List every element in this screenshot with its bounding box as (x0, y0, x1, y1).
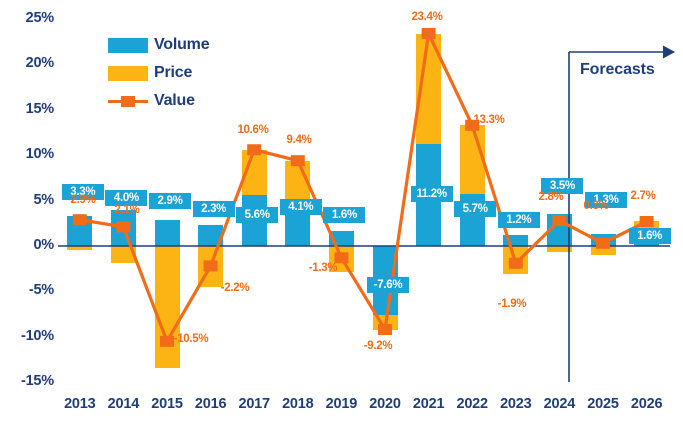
forecast-arrow-head (663, 46, 675, 59)
x-axis-tick: 2015 (143, 396, 191, 412)
volume-data-label: 4.1% (280, 199, 322, 215)
x-axis-tick: 2025 (579, 396, 627, 412)
x-axis-tick: 2019 (317, 396, 365, 412)
value-point-marker (552, 215, 566, 226)
value-point-marker (596, 238, 610, 249)
value-data-label: -1.3% (300, 261, 346, 275)
legend-item-volume[interactable]: Volume (108, 36, 209, 54)
x-axis-tick: 2016 (187, 396, 235, 412)
forecast-annotation-label: Forecasts (580, 61, 655, 79)
legend-label: Price (154, 64, 192, 82)
legend-label: Volume (154, 36, 209, 54)
value-data-label: 2.1% (104, 203, 150, 217)
legend-swatch-icon (108, 38, 148, 53)
x-axis-tick: 2014 (99, 396, 147, 412)
x-axis-tick: 2022 (448, 396, 496, 412)
x-axis-tick: 2013 (56, 396, 104, 412)
volume-data-label: 1.6% (629, 228, 671, 244)
volume-data-label: 5.7% (454, 201, 496, 217)
volume-data-label: 2.3% (193, 201, 235, 217)
x-axis-tick: 2023 (492, 396, 540, 412)
value-data-label: 2.7% (620, 189, 666, 203)
x-axis-tick: 2021 (405, 396, 453, 412)
volume-data-label: 11.2% (411, 186, 453, 202)
value-point-marker (291, 155, 305, 166)
legend-item-value[interactable]: Value (108, 92, 195, 110)
x-axis-tick: 2024 (535, 396, 583, 412)
value-point-marker (73, 214, 87, 225)
legend-swatch-icon (108, 66, 148, 81)
value-data-label: 23.4% (404, 10, 450, 24)
value-point-marker (204, 260, 218, 271)
value-data-label: 10.6% (230, 123, 276, 137)
value-data-label: 2.8% (528, 190, 574, 204)
volume-data-label: 2.9% (149, 193, 191, 209)
value-data-label: -1.9% (489, 297, 535, 311)
x-axis-tick: 2026 (623, 396, 671, 412)
value-data-label: -10.5% (168, 332, 214, 346)
volume-data-label: -7.6% (367, 277, 409, 293)
legend-item-price[interactable]: Price (108, 64, 192, 82)
value-data-label: -2.2% (212, 281, 258, 295)
value-data-label: 13.3% (466, 113, 512, 127)
value-point-marker (509, 258, 523, 269)
value-point-marker (116, 221, 130, 232)
value-data-label: 2.9% (60, 193, 106, 207)
x-axis-tick: 2018 (274, 396, 322, 412)
value-point-marker (378, 324, 392, 335)
legend-line-marker-icon (108, 94, 148, 109)
volume-data-label: 1.6% (323, 207, 365, 223)
percent-change-chart: 25%20%15%10%5%0%-5%-10%-15% 3.3%4.0%2.9%… (0, 0, 683, 424)
value-data-label: 9.4% (276, 133, 322, 147)
legend-label: Value (154, 92, 195, 110)
volume-data-label: 1.2% (498, 212, 540, 228)
value-point-marker (640, 216, 654, 227)
value-point-marker (422, 28, 436, 39)
value-data-label: -9.2% (355, 339, 401, 353)
x-axis-tick: 2017 (230, 396, 278, 412)
x-axis-tick: 2020 (361, 396, 409, 412)
value-point-marker (247, 144, 261, 155)
volume-data-label: 5.6% (236, 207, 278, 223)
value-data-label: 0.3% (573, 199, 619, 213)
